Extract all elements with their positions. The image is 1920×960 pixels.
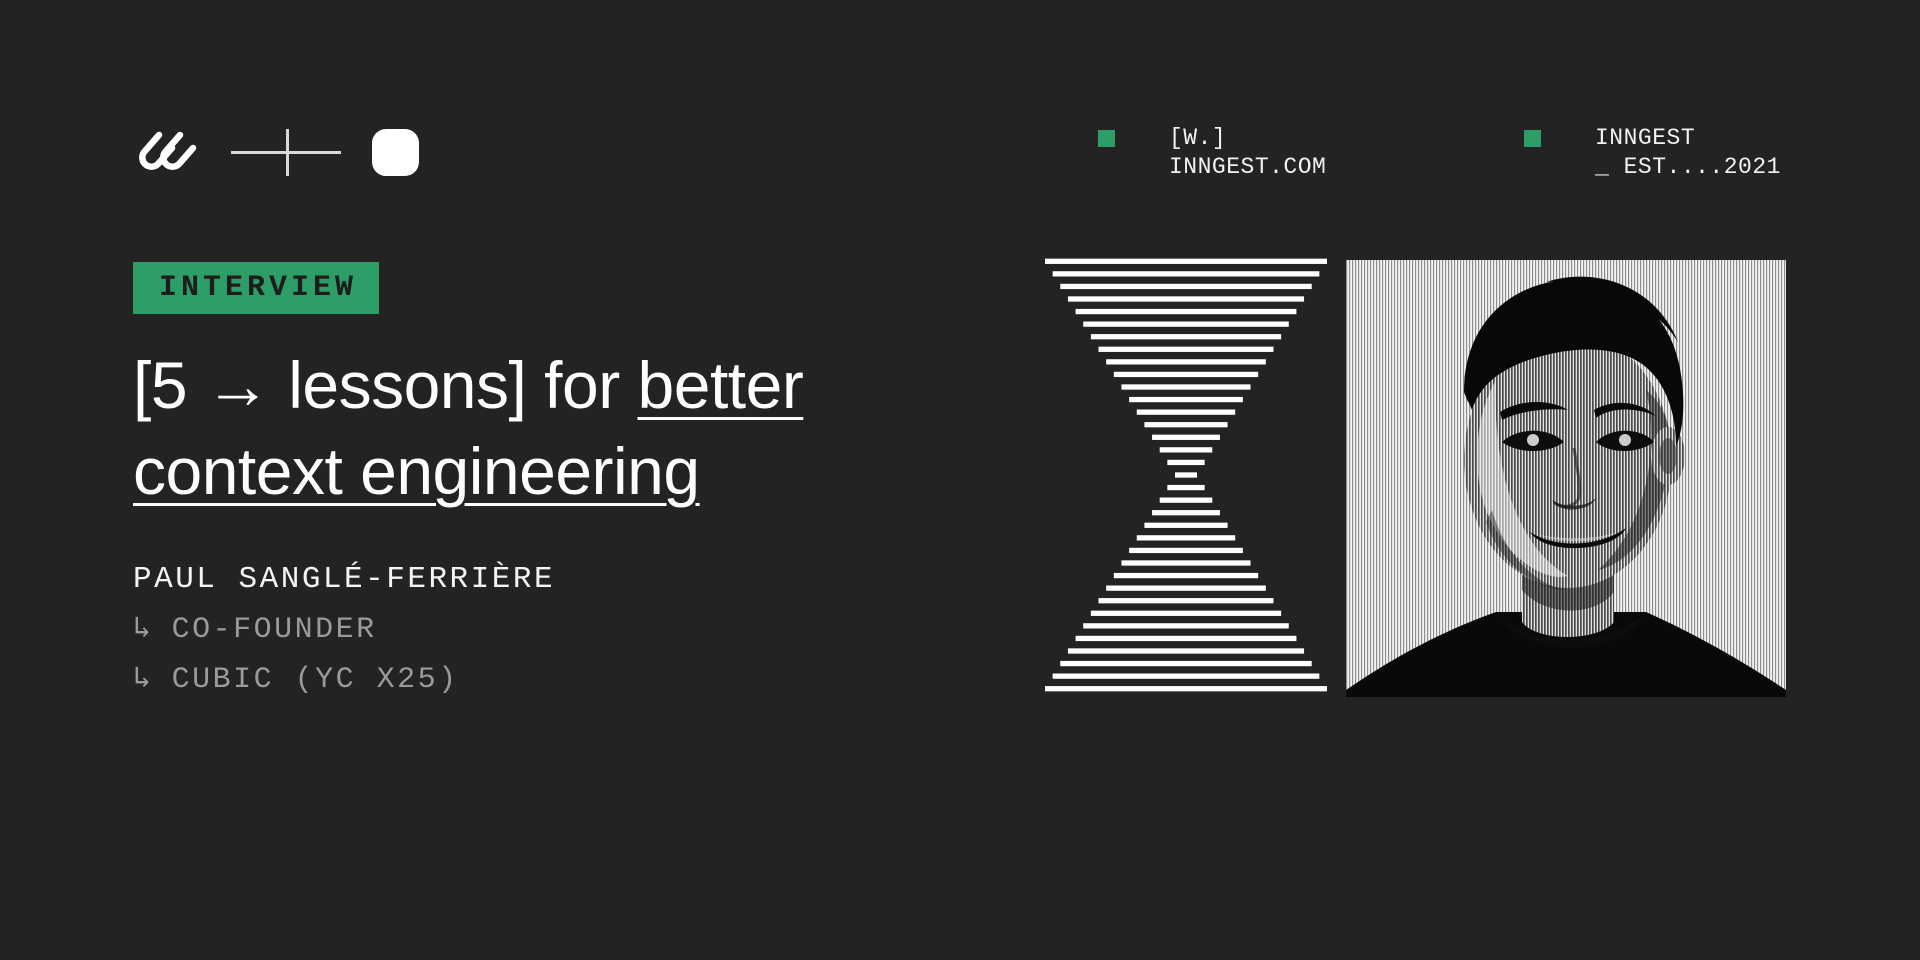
arrow-turn-icon: ↳ xyxy=(133,660,154,697)
hourglass-bar xyxy=(1114,573,1258,578)
page-header: [W.] INNGEST.COM INNGEST _ EST....2021 xyxy=(0,0,1920,200)
hourglass-bar xyxy=(1152,510,1220,515)
meta-website-line2: INNGEST.COM xyxy=(1169,154,1326,180)
hourglass-bar xyxy=(1068,648,1304,653)
hourglass-bar xyxy=(1060,284,1311,289)
headline-line2-underlined: context engineering xyxy=(133,434,700,508)
hourglass-bars-graphic xyxy=(1045,255,1327,695)
inngest-logo[interactable] xyxy=(133,129,199,175)
green-square-icon xyxy=(1098,130,1115,147)
hourglass-bar xyxy=(1121,384,1250,389)
speaker-portrait-svg xyxy=(1346,260,1786,697)
hourglass-bar xyxy=(1160,498,1213,503)
hourglass-bar xyxy=(1121,560,1250,565)
hourglass-bar xyxy=(1083,623,1289,628)
header-meta-website: [W.] INNGEST.COM xyxy=(1098,124,1326,182)
headline-line1-plain: [5 → lessons] for xyxy=(133,348,638,422)
hourglass-bar xyxy=(1129,548,1243,553)
hourglass-bar xyxy=(1129,397,1243,402)
rounded-square-mark xyxy=(372,129,419,176)
hourglass-bar xyxy=(1114,372,1258,377)
hourglass-bar xyxy=(1167,460,1204,465)
hourglass-bar xyxy=(1099,347,1274,352)
hourglass-svg xyxy=(1045,255,1327,695)
hourglass-bar xyxy=(1144,422,1227,427)
hourglass-bar xyxy=(1106,359,1266,364)
hourglass-bar xyxy=(1053,674,1320,679)
hourglass-bar xyxy=(1167,485,1204,490)
category-badge: INTERVIEW xyxy=(133,262,379,314)
speaker-role: CO-FOUNDER xyxy=(172,613,377,647)
hourglass-bar xyxy=(1160,447,1213,452)
lockup-divider xyxy=(231,151,341,154)
lockup-cross-icon xyxy=(286,129,289,176)
hourglass-bar xyxy=(1076,636,1297,641)
speaker-portrait xyxy=(1346,260,1786,697)
hourglass-bar xyxy=(1068,296,1304,301)
header-meta-website-text: [W.] INNGEST.COM xyxy=(1169,124,1326,182)
meta-website-line1: [W.] xyxy=(1169,125,1226,151)
hourglass-bar xyxy=(1152,435,1220,440)
hourglass-bar xyxy=(1045,259,1327,264)
hourglass-bar xyxy=(1099,598,1274,603)
headline-line1-underlined: better xyxy=(638,348,804,422)
arrow-turn-icon: ↳ xyxy=(133,610,154,647)
hourglass-bar xyxy=(1091,334,1281,339)
speaker-company: CUBIC (YC X25) xyxy=(172,663,459,697)
hourglass-bar xyxy=(1045,686,1327,691)
hourglass-bar xyxy=(1053,271,1320,276)
content-column: INTERVIEW [5 → lessons] for better conte… xyxy=(133,262,953,697)
hourglass-bar xyxy=(1083,322,1289,327)
hourglass-bar xyxy=(1060,661,1311,666)
meta-est-line1: INNGEST xyxy=(1595,125,1695,151)
page-title: [5 → lessons] for better context enginee… xyxy=(133,342,953,514)
hourglass-bar xyxy=(1137,410,1235,415)
header-meta-established: INNGEST _ EST....2021 xyxy=(1524,124,1781,182)
speaker-role-row: ↳ CO-FOUNDER xyxy=(133,610,953,647)
speaker-byline: PAUL SANGLÉ-FERRIÈRE ↳ CO-FOUNDER ↳ CUBI… xyxy=(133,562,953,697)
hourglass-bar xyxy=(1076,309,1297,314)
green-square-icon xyxy=(1524,130,1541,147)
speaker-name: PAUL SANGLÉ-FERRIÈRE xyxy=(133,562,953,597)
brand-lockup[interactable] xyxy=(133,122,419,182)
hourglass-bar xyxy=(1091,611,1281,616)
hourglass-bar xyxy=(1137,535,1235,540)
hourglass-bar xyxy=(1175,472,1197,477)
hourglass-bar xyxy=(1144,523,1227,528)
speaker-company-row: ↳ CUBIC (YC X25) xyxy=(133,660,953,697)
header-meta-established-text: INNGEST _ EST....2021 xyxy=(1595,124,1781,182)
hourglass-bar xyxy=(1106,586,1266,591)
meta-est-line2: _ EST....2021 xyxy=(1595,154,1781,180)
